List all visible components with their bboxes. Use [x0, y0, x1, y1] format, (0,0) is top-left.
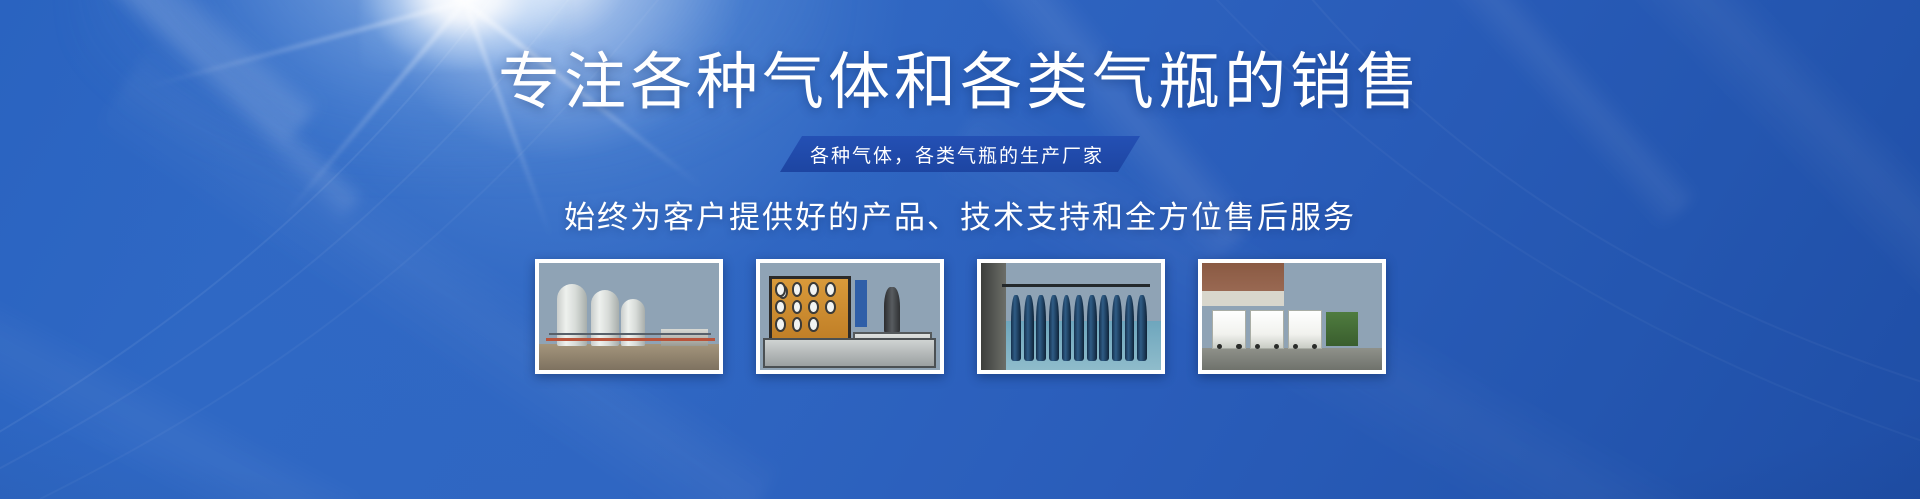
photo-delivery-truck-fleet: [1202, 263, 1382, 370]
hero-banner: 专注各种气体和各类气瓶的销售 各种气体，各类气瓶的生产厂家 始终为客户提供好的产…: [0, 0, 1920, 499]
gallery-thumb-gas-cylinder-rack[interactable]: [977, 259, 1165, 374]
ribbon-shape: 各种气体，各类气瓶的生产厂家: [780, 136, 1140, 172]
hero-content: 专注各种气体和各类气瓶的销售 各种气体，各类气瓶的生产厂家 始终为客户提供好的产…: [0, 0, 1920, 499]
photo-gas-gauge-test-panel: [760, 263, 940, 370]
hero-tagline: 始终为客户提供好的产品、技术支持和全方位售后服务: [564, 192, 1356, 237]
ribbon-label: 各种气体，各类气瓶的生产厂家: [810, 141, 1104, 168]
photo-gas-cylinder-rack: [981, 263, 1161, 370]
gallery-thumb-delivery-truck-fleet[interactable]: [1198, 259, 1386, 374]
photo-gallery: [535, 259, 1386, 374]
photo-cryogenic-storage-tanks: [539, 263, 719, 370]
gallery-thumb-gas-gauge-test-panel[interactable]: [756, 259, 944, 374]
page-title: 专注各种气体和各类气瓶的销售: [498, 52, 1422, 114]
ribbon-banner: 各种气体，各类气瓶的生产厂家: [780, 136, 1140, 172]
gallery-thumb-cryogenic-storage-tanks[interactable]: [535, 259, 723, 374]
